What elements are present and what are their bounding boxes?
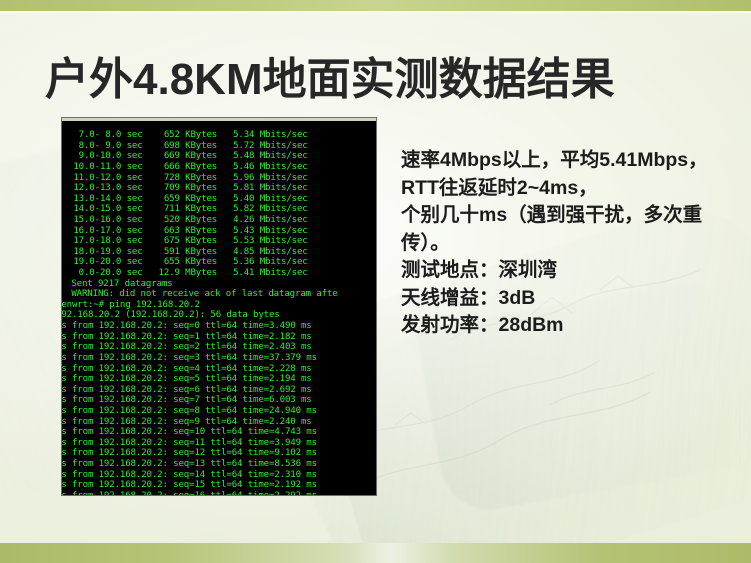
terminal-line: es from 192.168.20.2: seq=12 ttl=64 time…	[62, 448, 376, 459]
terminal-line: 19.0-20.0 sec 655 KBytes 5.36 Mbits/sec	[62, 257, 376, 268]
terminal-line: penwrt:~# ping 192.168.20.2	[62, 300, 376, 311]
notes-line: 速率4Mbps以上，平均5.41Mbps，	[401, 147, 741, 175]
terminal-line: es from 192.168.20.2: seq=3 ttl=64 time=…	[62, 353, 376, 364]
terminal-line: es from 192.168.20.2: seq=11 ttl=64 time…	[62, 438, 376, 449]
header-band-edge	[0, 11, 751, 14]
terminal-line: 0.0-20.0 sec 12.9 MBytes 5.41 Mbits/sec	[62, 268, 376, 279]
terminal-line: es from 192.168.20.2: seq=13 ttl=64 time…	[62, 459, 376, 470]
terminal-line: es from 192.168.20.2: seq=0 ttl=64 time=…	[62, 321, 376, 332]
notes-line: 个别几十ms（遇到强干扰，多次重	[401, 202, 741, 230]
terminal-line: Sent 9217 datagrams	[62, 279, 376, 290]
terminal-line: es from 192.168.20.2: seq=10 ttl=64 time…	[62, 427, 376, 438]
terminal-line: es from 192.168.20.2: seq=8 ttl=64 time=…	[62, 406, 376, 417]
terminal-line: 14.0-15.0 sec 711 KBytes 5.82 Mbits/sec	[62, 204, 376, 215]
terminal-line: es from 192.168.20.2: seq=15 ttl=64 time…	[62, 480, 376, 491]
slide-canvas: 户外4.8KM地面实测数据结果 7.0- 8.0 sec 652 KBytes …	[0, 0, 751, 563]
terminal-line: es from 192.168.20.2: seq=5 ttl=64 time=…	[62, 374, 376, 385]
terminal-line: es from 192.168.20.2: seq=6 ttl=64 time=…	[62, 385, 376, 396]
terminal-line: 17.0-18.0 sec 675 KBytes 5.53 Mbits/sec	[62, 236, 376, 247]
terminal-line: es from 192.168.20.2: seq=16 ttl=64 time…	[62, 491, 376, 495]
terminal-top-edge	[62, 118, 376, 121]
header-band	[0, 0, 751, 11]
page-title: 户外4.8KM地面实测数据结果	[45, 55, 615, 106]
terminal-line: 16.0-17.0 sec 663 KBytes 5.43 Mbits/sec	[62, 226, 376, 237]
notes-line: 发射功率：28dBm	[401, 312, 741, 340]
terminal-line: 12.0-13.0 sec 709 KBytes 5.81 Mbits/sec	[62, 183, 376, 194]
notes-line: 测试地点：深圳湾	[401, 257, 741, 285]
terminal-line: es from 192.168.20.2: seq=7 ttl=64 time=…	[62, 395, 376, 406]
terminal-line: WARNING: did not receive ack of last dat…	[62, 289, 376, 300]
terminal-screenshot: 7.0- 8.0 sec 652 KBytes 5.34 Mbits/sec 8…	[62, 118, 376, 495]
terminal-line: es from 192.168.20.2: seq=9 ttl=64 time=…	[62, 417, 376, 428]
terminal-line: 18.0-19.0 sec 591 KBytes 4.85 Mbits/sec	[62, 247, 376, 258]
terminal-line: 192.168.20.2 (192.168.20.2): 56 data byt…	[62, 310, 376, 321]
notes-line: 传）。	[401, 230, 741, 258]
footer-band	[0, 543, 751, 563]
notes-line: 天线增益：3dB	[401, 285, 741, 313]
terminal-line: 8.0- 9.0 sec 698 KBytes 5.72 Mbits/sec	[62, 141, 376, 152]
notes-block: 速率4Mbps以上，平均5.41Mbps，RTT往返延时2~4ms，个别几十ms…	[401, 147, 741, 340]
terminal-line: es from 192.168.20.2: seq=2 ttl=64 time=…	[62, 342, 376, 353]
terminal-line: es from 192.168.20.2: seq=1 ttl=64 time=…	[62, 332, 376, 343]
terminal-line: es from 192.168.20.2: seq=4 ttl=64 time=…	[62, 364, 376, 375]
terminal-output: 7.0- 8.0 sec 652 KBytes 5.34 Mbits/sec 8…	[62, 130, 376, 495]
terminal-line: 7.0- 8.0 sec 652 KBytes 5.34 Mbits/sec	[62, 130, 376, 141]
terminal-line: 10.0-11.0 sec 666 KBytes 5.46 Mbits/sec	[62, 162, 376, 173]
terminal-line: 15.0-16.0 sec 520 KBytes 4.26 Mbits/sec	[62, 215, 376, 226]
terminal-line: es from 192.168.20.2: seq=14 ttl=64 time…	[62, 470, 376, 481]
terminal-line: 13.0-14.0 sec 659 KBytes 5.40 Mbits/sec	[62, 194, 376, 205]
notes-line: RTT往返延时2~4ms，	[401, 175, 741, 203]
terminal-line: 9.0-10.0 sec 669 KBytes 5.48 Mbits/sec	[62, 151, 376, 162]
terminal-line: 11.0-12.0 sec 728 KBytes 5.96 Mbits/sec	[62, 173, 376, 184]
